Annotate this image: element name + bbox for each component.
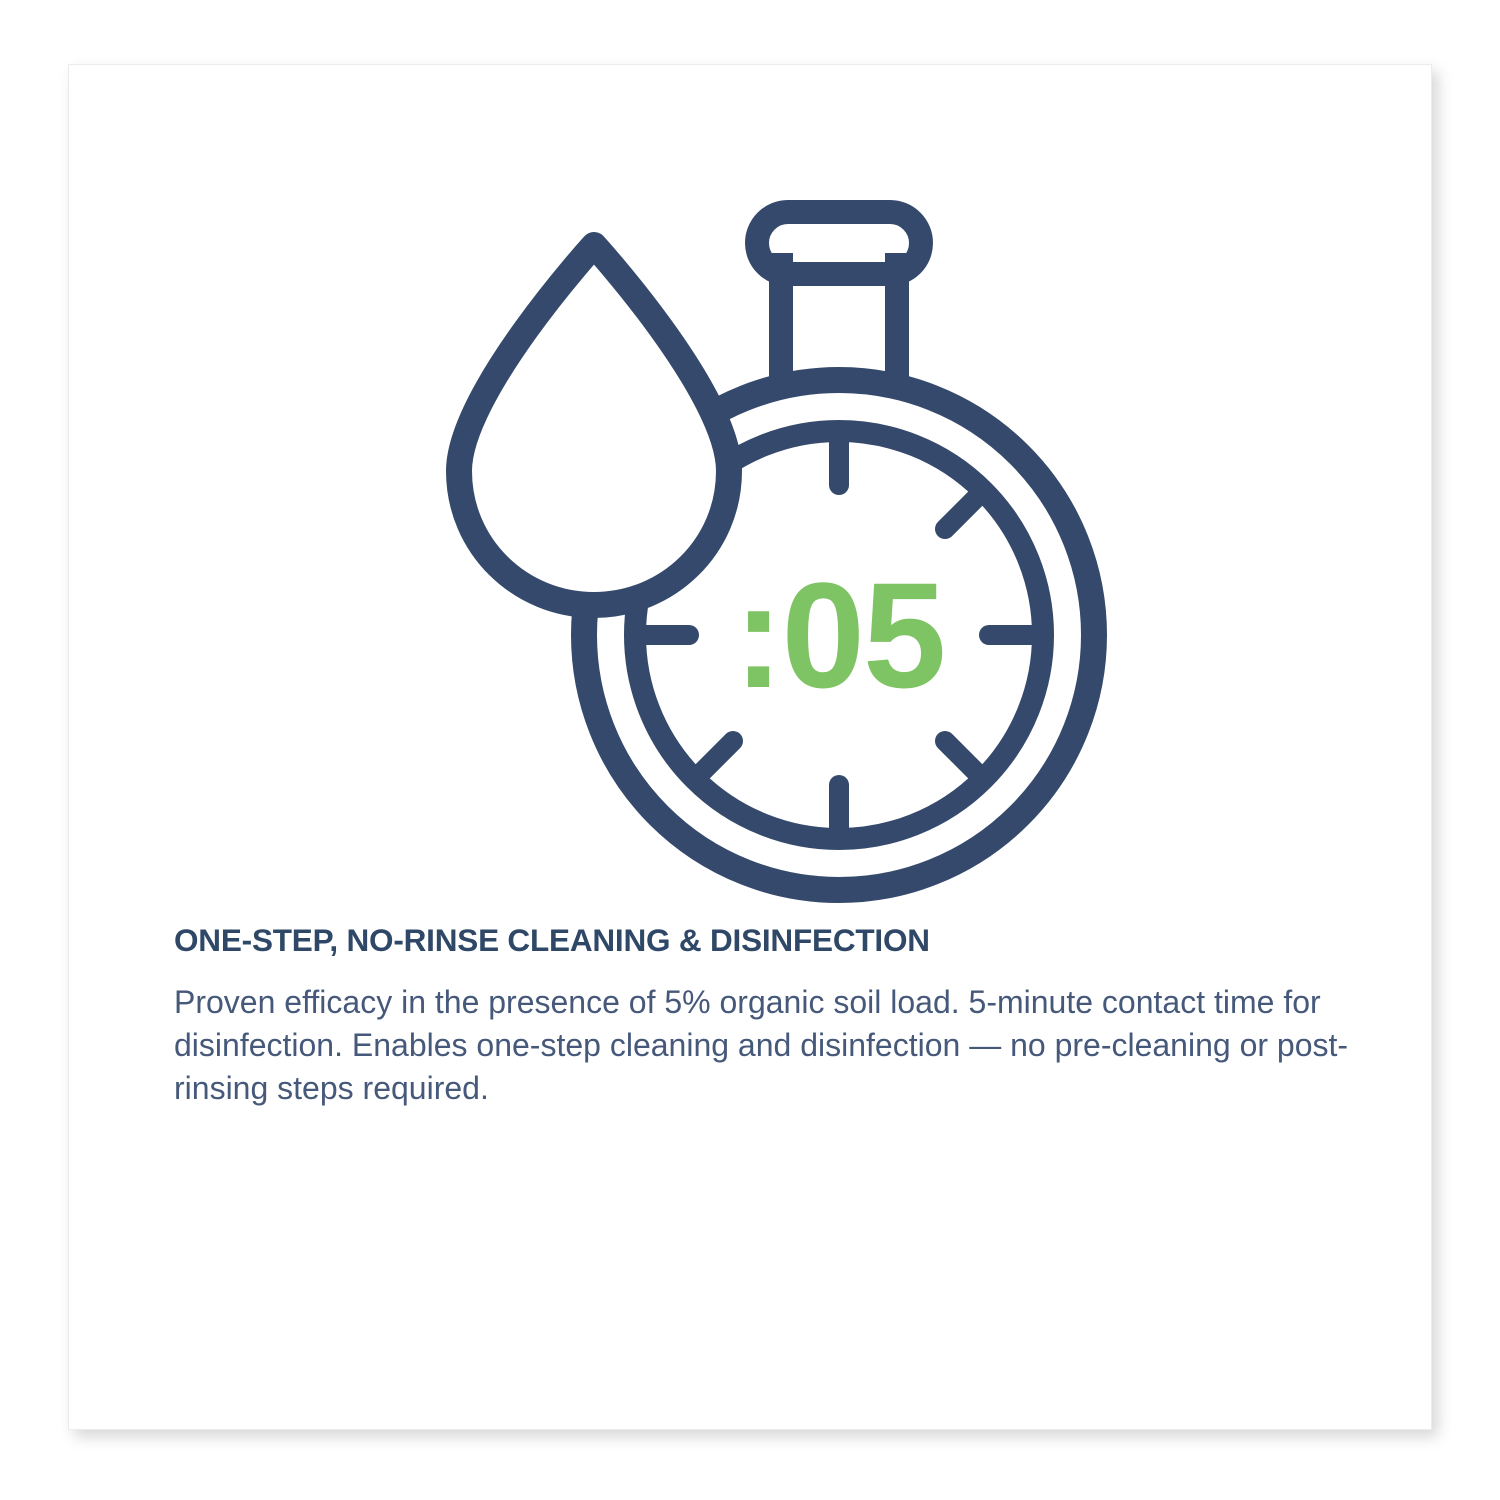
stopwatch-with-water-droplet-icon: :05 (419, 135, 1219, 935)
water-droplet (459, 245, 729, 605)
tick-1-30 (945, 494, 980, 529)
stopwatch-crown-button (757, 212, 921, 274)
tick-7-30 (698, 741, 733, 776)
timer-value-text: :05 (734, 551, 945, 719)
feature-headline: ONE-STEP, NO-RINSE CLEANING & DISINFECTI… (174, 923, 1394, 958)
product-feature-card: :05 ONE-STEP, NO-RINSE CLEANING & DISINF… (68, 64, 1432, 1430)
feature-description: Proven efficacy in the presence of 5% or… (174, 981, 1374, 1110)
feature-text-block: ONE-STEP, NO-RINSE CLEANING & DISINFECTI… (174, 923, 1394, 1110)
tick-4-30 (945, 741, 980, 776)
page-root: :05 ONE-STEP, NO-RINSE CLEANING & DISINF… (0, 0, 1500, 1500)
